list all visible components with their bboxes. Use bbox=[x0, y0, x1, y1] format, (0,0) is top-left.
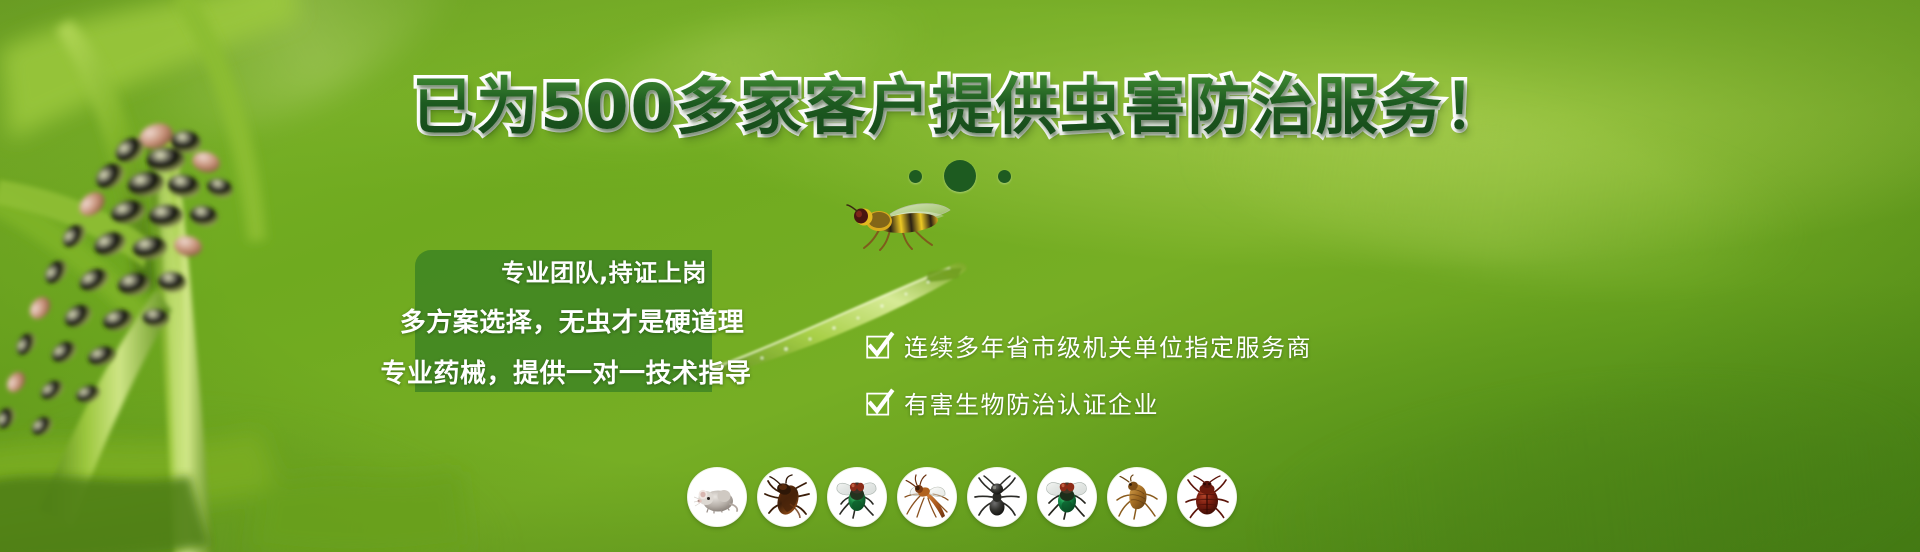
feature-checklist: 连续多年省市级机关单位指定服务商 有害生物防治认证企业 bbox=[866, 328, 1312, 420]
bedbug-icon bbox=[1184, 474, 1230, 520]
cockroach-icon bbox=[764, 474, 810, 520]
checklist-item: 有害生物防治认证企业 bbox=[866, 385, 1312, 420]
plant-stalk-decoration bbox=[0, 0, 480, 552]
dot-small-right-icon bbox=[998, 170, 1011, 183]
pest-circle-ant[interactable] bbox=[968, 468, 1026, 526]
pest-circle-housefly[interactable] bbox=[828, 468, 886, 526]
checklist-item-label: 有害生物防治认证企业 bbox=[904, 385, 1159, 420]
checklist-item-label: 连续多年省市级机关单位指定服务商 bbox=[904, 328, 1312, 363]
dot-small-left-icon bbox=[909, 170, 922, 183]
mosquito-icon bbox=[904, 474, 950, 520]
pest-circle-blowfly[interactable] bbox=[1038, 468, 1096, 526]
pest-circle-bedbug[interactable] bbox=[1178, 468, 1236, 526]
pest-control-banner: 已为500多家客户提供虫害防治服务！ 已为500多家客户提供虫害防治服务！ 专业… bbox=[0, 0, 1920, 552]
housefly-icon bbox=[834, 474, 880, 520]
dot-big-center-icon bbox=[944, 160, 976, 192]
headline-dots bbox=[0, 160, 1920, 192]
checkbox-checked-icon bbox=[866, 390, 892, 416]
pest-circle-cockroach[interactable] bbox=[758, 468, 816, 526]
flea-icon bbox=[1114, 474, 1160, 520]
hoverfly-icon bbox=[846, 198, 956, 256]
pest-circle-flea[interactable] bbox=[1108, 468, 1166, 526]
pest-circle-mosquito[interactable] bbox=[898, 468, 956, 526]
pest-circle-mouse[interactable] bbox=[688, 468, 746, 526]
ant-icon bbox=[974, 474, 1020, 520]
checklist-item: 连续多年省市级机关单位指定服务商 bbox=[866, 328, 1312, 363]
checkbox-checked-icon bbox=[866, 333, 892, 359]
slogan-panel-background bbox=[415, 250, 712, 392]
pest-icon-row bbox=[688, 468, 1236, 526]
blowfly-icon bbox=[1044, 474, 1090, 520]
mouse-icon bbox=[694, 474, 740, 520]
